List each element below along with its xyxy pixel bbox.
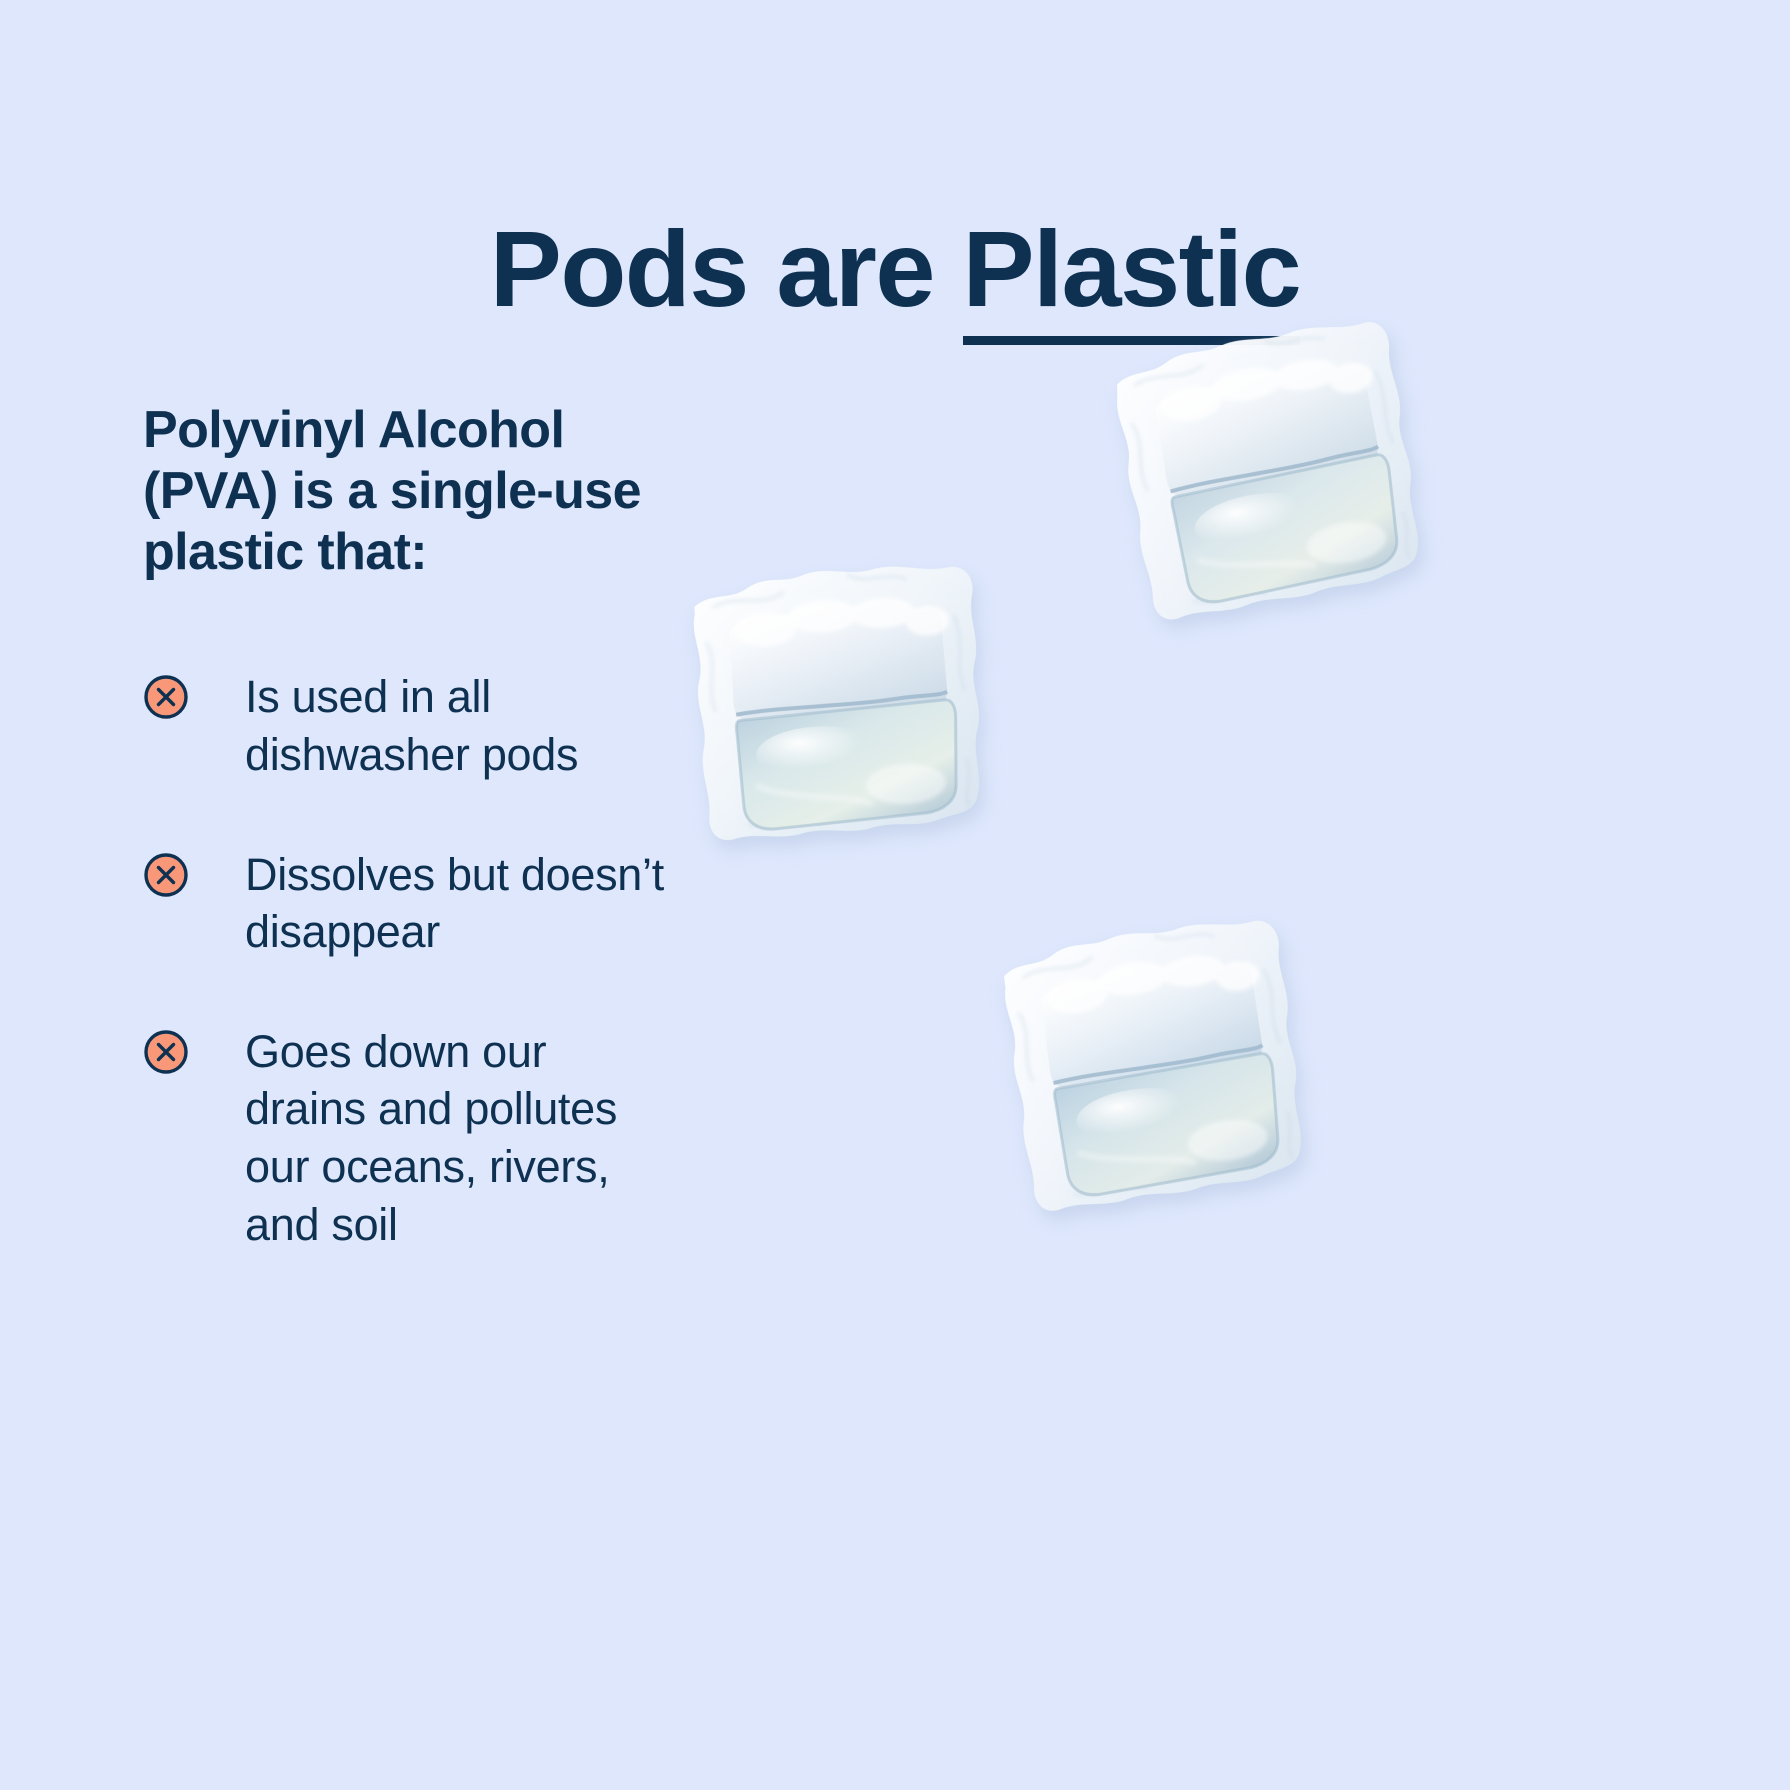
circle-x-icon — [143, 1029, 189, 1075]
claims-list: Is used in all dishwasher pods Dissolves… — [143, 668, 743, 1253]
circle-x-icon — [143, 674, 189, 720]
list-item: Dissolves but doesn’t disappear — [143, 846, 743, 961]
list-item: Is used in all dishwasher pods — [143, 668, 743, 783]
pod-image-middle-left — [651, 516, 1040, 905]
list-item: Goes down our drains and pollutes our oc… — [143, 1023, 743, 1253]
list-item-label: Is used in all dishwasher pods — [245, 668, 675, 783]
page-title: Pods are Plastic — [0, 212, 1790, 325]
lede-heading: Polyvinyl Alcohol (PVA) is a single-use … — [143, 400, 673, 582]
list-item-label: Goes down our drains and pollutes our oc… — [245, 1023, 675, 1253]
page-title-leading: Pods are — [490, 208, 963, 329]
pod-image-top-right — [1063, 268, 1486, 691]
infographic-poster: Pods are Plastic Polyvinyl Alcohol (PVA)… — [0, 0, 1790, 1790]
list-item-label: Dissolves but doesn’t disappear — [245, 846, 675, 961]
pod-image-bottom-right — [954, 867, 1366, 1279]
circle-x-icon — [143, 852, 189, 898]
left-content-column: Polyvinyl Alcohol (PVA) is a single-use … — [143, 400, 743, 1253]
